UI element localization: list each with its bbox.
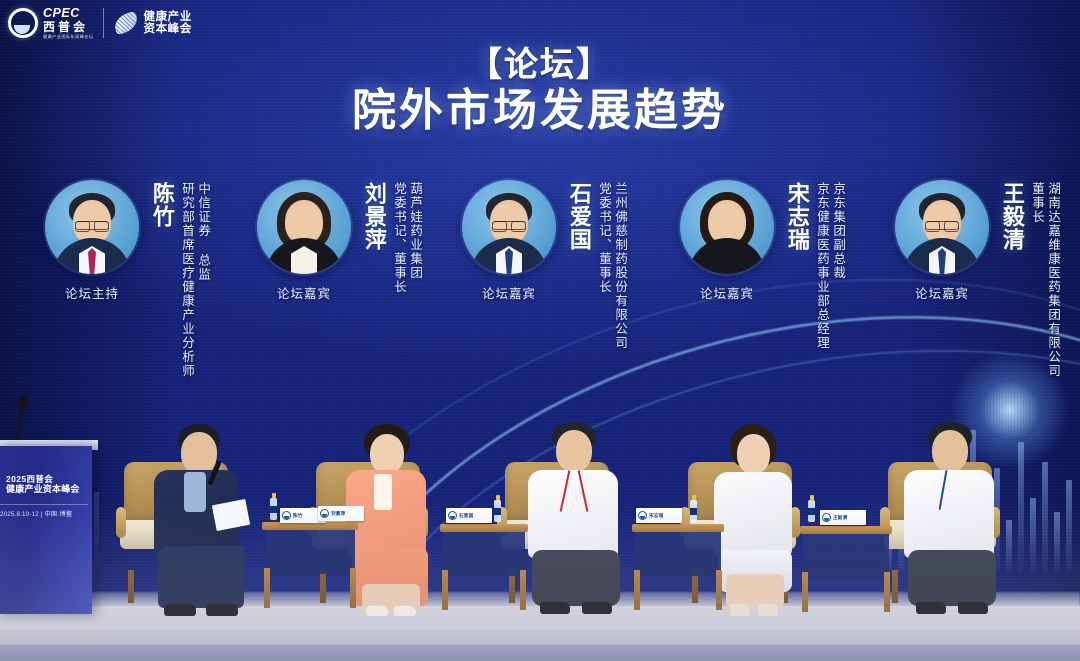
panelist-card-chen-zhu: 论坛主持 陈竹 中信证券 总监 研究部首席医疗健康产业分析师 — [38, 180, 209, 378]
water-bottle — [690, 500, 697, 522]
nameplate-text-liu-jingping: 刘景萍 — [331, 511, 345, 517]
panelist-card-liu-jingping: 论坛嘉宾 刘景萍 葫芦娃药业集团 党委书记、董事长 — [250, 180, 421, 302]
panelist-role-song-zhirui: 论坛嘉宾 — [700, 283, 754, 302]
cpec-ring-icon — [8, 8, 38, 38]
water-bottle — [494, 500, 501, 522]
panelist-card-row: 论坛主持 陈竹 中信证券 总监 研究部首席医疗健康产业分析师 论坛嘉宾 刘景萍 — [0, 180, 1080, 430]
side-table-1 — [262, 522, 358, 574]
glasses-icon — [492, 221, 526, 230]
panelist-name-song-zhirui: 宋志瑞 — [785, 182, 808, 251]
panelist-card-song-zhirui: 论坛嘉宾 宋志瑞 京东集团副总裁 京东健康医药事业部总经理 — [673, 180, 844, 350]
leaf-icon — [112, 11, 140, 36]
cpec-logo: CPEC 西普会 健康产业国际化高峰论坛 — [8, 7, 93, 39]
nameplate-logo-icon — [320, 509, 329, 518]
avatar-shi-aiguo — [462, 180, 556, 274]
headline-bracket-line: 【论坛】 — [0, 46, 1080, 84]
panelist-name-shi-aiguo: 石爱国 — [567, 182, 590, 251]
panelist-name-liu-jingping: 刘景萍 — [362, 182, 385, 251]
person-wang-yiqing — [900, 422, 1004, 614]
cpec-subtitle-cn: 健康产业国际化高峰论坛 — [43, 35, 93, 39]
podium-line2: 健康产业资本峰会 — [6, 484, 86, 495]
podium-date-location: 2025.8.10-12 | 中国·博鳌 — [0, 509, 92, 518]
speaker-notes-paper — [212, 499, 250, 531]
person-shi-aiguo — [524, 422, 630, 614]
nameplate-logo-icon — [822, 513, 831, 522]
avatar-song-zhirui — [680, 180, 774, 274]
panelist-role-liu-jingping: 论坛嘉宾 — [277, 283, 331, 302]
panelist-title-liu-jingping-1: 党委书记、董事长 — [392, 182, 405, 294]
nameplate-text-wang-yiqing: 王毅清 — [833, 515, 847, 521]
panelist-name-chen-zhu: 陈竹 — [150, 182, 173, 228]
podium: 2025西普会 健康产业资本峰会 2025.8.10-12 | 中国·博鳌 — [0, 446, 92, 614]
logo-bar: CPEC 西普会 健康产业国际化高峰论坛 健康产业 资本峰会 — [0, 0, 240, 46]
summit-logo: 健康产业 资本峰会 — [114, 11, 191, 36]
panelist-title-liu-jingping-0: 葫芦娃药业集团 — [408, 182, 421, 294]
cpec-name-cn: 西普会 — [43, 21, 93, 33]
nameplate-text-shi-aiguo: 石爱国 — [459, 513, 473, 519]
nameplate-logo-icon — [448, 511, 457, 520]
podium-line1: 2025西普会 — [6, 474, 86, 484]
side-table-3 — [632, 524, 724, 576]
panelist-title-shi-aiguo-1: 党委书记、董事长 — [597, 182, 610, 350]
logo-divider — [103, 8, 104, 38]
attendee-badge — [569, 510, 578, 522]
conference-stage-photo: CPEC 西普会 健康产业国际化高峰论坛 健康产业 资本峰会 【论坛】 院外市场… — [0, 0, 1080, 661]
side-table-2 — [440, 524, 528, 576]
person-chen-zhu — [150, 424, 260, 614]
panelist-card-shi-aiguo: 论坛嘉宾 石爱国 兰州佛慈制药股份有限公司 党委书记、董事长 — [455, 180, 626, 350]
panelist-title-song-zhirui-0: 京东集团副总裁 — [831, 182, 844, 350]
water-bottle — [808, 500, 815, 522]
avatar-liu-jingping — [257, 180, 351, 274]
avatar-chen-zhu — [45, 180, 139, 274]
nameplate-logo-icon — [282, 511, 291, 520]
nameplate-text-song-zhirui: 宋志瑞 — [649, 513, 663, 519]
cpec-abbrev: CPEC — [43, 7, 93, 20]
nameplate-song-zhirui: 宋志瑞 — [636, 508, 682, 523]
forum-headline: 【论坛】 院外市场发展趋势 — [0, 46, 1080, 135]
water-bottle — [270, 498, 277, 520]
nameplate-liu-jingping: 刘景萍 — [318, 506, 364, 521]
summit-logo-line1: 健康产业 — [143, 11, 191, 23]
podium-divider — [0, 504, 88, 505]
panelist-role-shi-aiguo: 论坛嘉宾 — [482, 283, 536, 302]
panelist-title-wang-yiqing-1: 董事长 — [1030, 182, 1043, 378]
nameplate-wang-yiqing: 王毅清 — [820, 510, 866, 525]
nameplate-logo-icon — [638, 511, 647, 520]
panelist-title-shi-aiguo-0: 兰州佛慈制药股份有限公司 — [613, 182, 626, 350]
nameplate-shi-aiguo: 石爱国 — [446, 508, 492, 523]
panelist-title-song-zhirui-1: 京东健康医药事业部总经理 — [815, 182, 828, 350]
panelist-card-wang-yiqing: 论坛嘉宾 王毅清 湖南达嘉维康医药集团有限公司 董事长 — [888, 180, 1059, 378]
attendee-badge — [944, 508, 953, 520]
panelist-title-wang-yiqing-0: 湖南达嘉维康医药集团有限公司 — [1046, 182, 1059, 378]
panelist-role-wang-yiqing: 论坛嘉宾 — [915, 283, 969, 302]
panelist-title-chen-zhu-0: 中信证券 总监 — [196, 182, 209, 378]
avatar-wang-yiqing — [895, 180, 989, 274]
stage-floor-front-edge — [0, 645, 1080, 661]
side-table-4 — [800, 526, 892, 578]
panelist-role-chen-zhu: 论坛主持 — [65, 283, 119, 302]
panelist-name-wang-yiqing: 王毅清 — [1000, 182, 1023, 251]
headline-main-line: 院外市场发展趋势 — [0, 86, 1080, 135]
summit-logo-line2: 资本峰会 — [143, 23, 191, 35]
panelist-title-chen-zhu-1: 研究部首席医疗健康产业分析师 — [180, 182, 193, 378]
podium-branding: 2025西普会 健康产业资本峰会 — [6, 474, 86, 495]
glasses-icon — [75, 221, 109, 230]
nameplate-text-chen-zhu: 陈竹 — [293, 513, 303, 519]
glasses-icon — [925, 221, 959, 230]
